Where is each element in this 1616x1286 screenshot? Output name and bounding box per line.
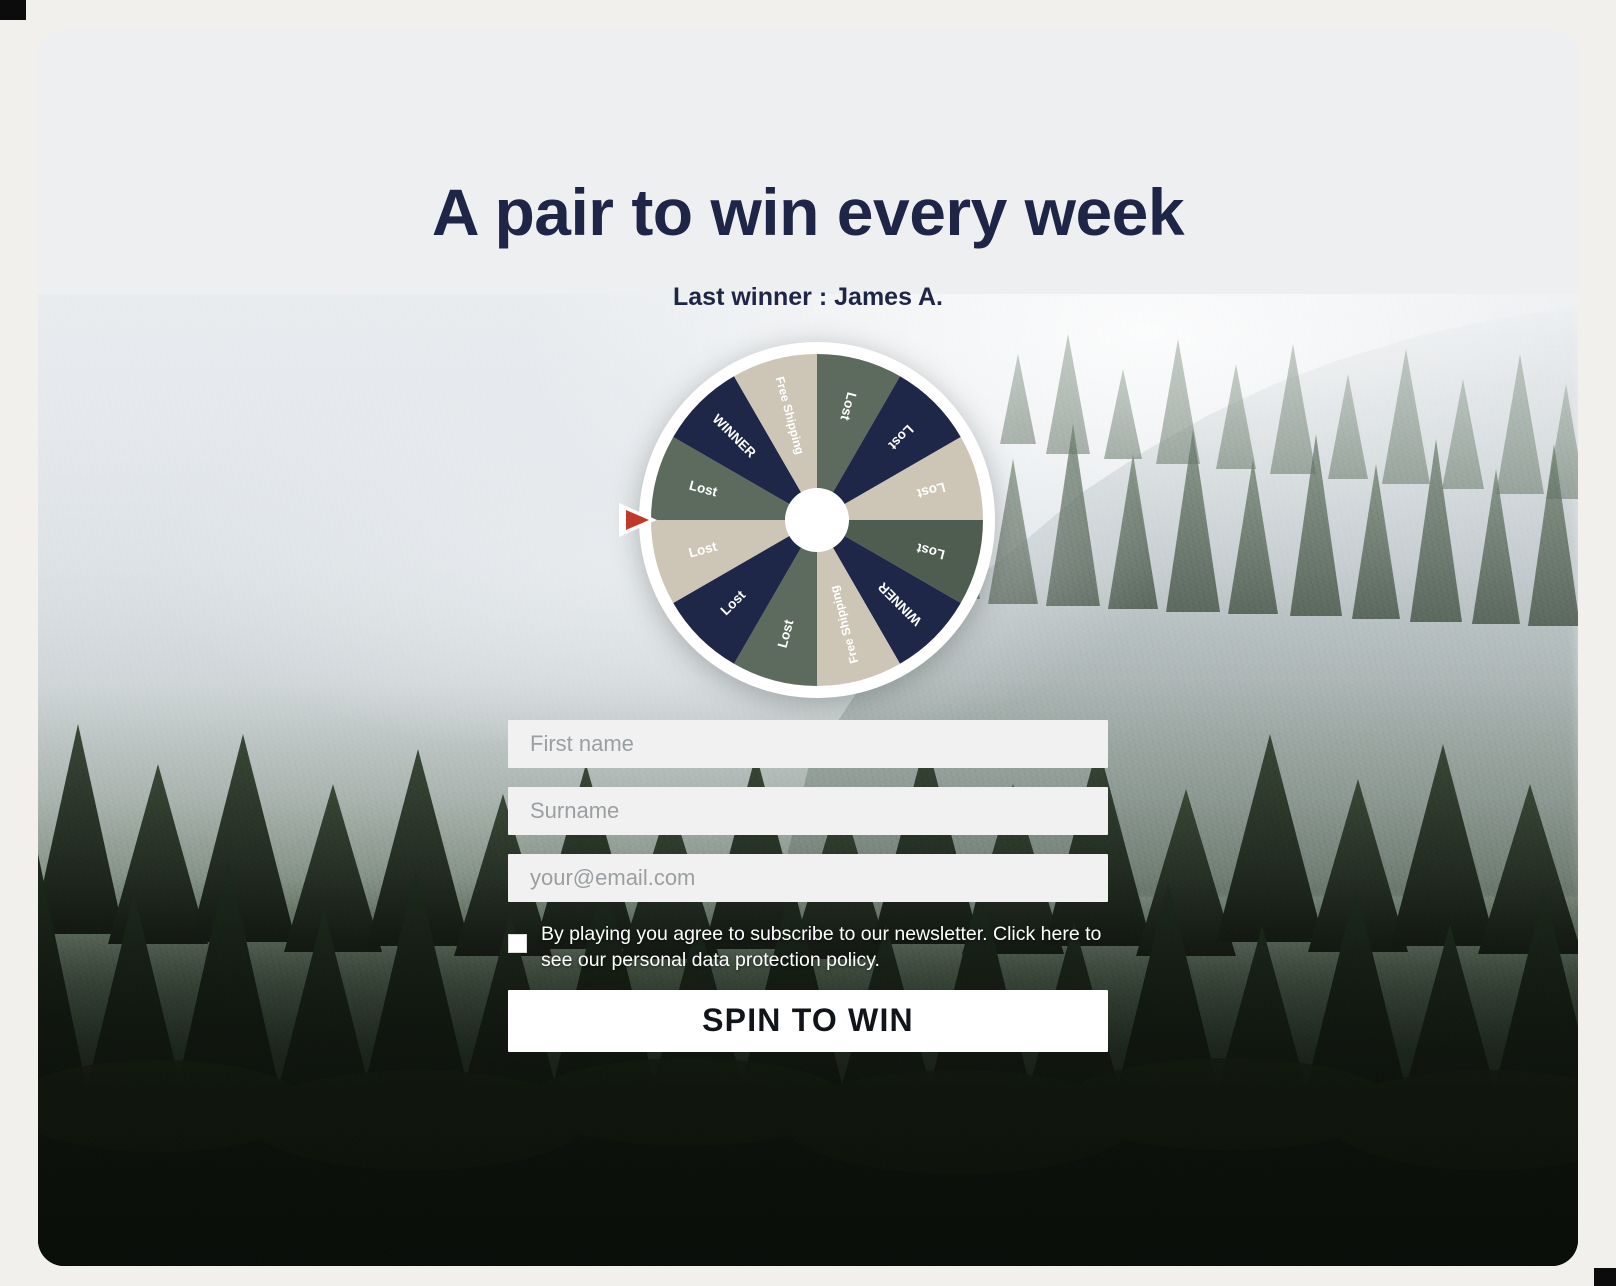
corner-mark-top-left [0,0,26,20]
prize-wheel-area: LostLostLostLostWINNERFree ShippingLostL… [38,340,1578,700]
surname-input[interactable] [508,787,1108,835]
page-title: A pair to win every week [38,178,1578,247]
pointer-triangle-icon [615,497,661,543]
wheel-hub [785,488,849,552]
consent-row: By playing you agree to subscribe to our… [508,921,1108,974]
spin-to-win-button[interactable]: SPIN TO WIN [508,990,1108,1052]
consent-text[interactable]: By playing you agree to subscribe to our… [541,921,1108,974]
prize-wheel[interactable]: LostLostLostLostWINNERFree ShippingLostL… [637,340,997,700]
wheel-graphic[interactable]: LostLostLostLostWINNERFree ShippingLostL… [637,340,997,700]
email-input[interactable] [508,854,1108,902]
newsletter-consent-checkbox[interactable] [508,934,527,953]
entry-form: By playing you agree to subscribe to our… [508,720,1108,1052]
last-winner-label: Last winner : James A. [38,283,1578,312]
headings-block: A pair to win every week Last winner : J… [38,30,1578,312]
popup-root: A pair to win every week Last winner : J… [0,0,1616,1286]
first-name-input[interactable] [508,720,1108,768]
corner-mark-bottom-right [1594,1268,1616,1286]
promo-panel: A pair to win every week Last winner : J… [38,30,1578,1266]
